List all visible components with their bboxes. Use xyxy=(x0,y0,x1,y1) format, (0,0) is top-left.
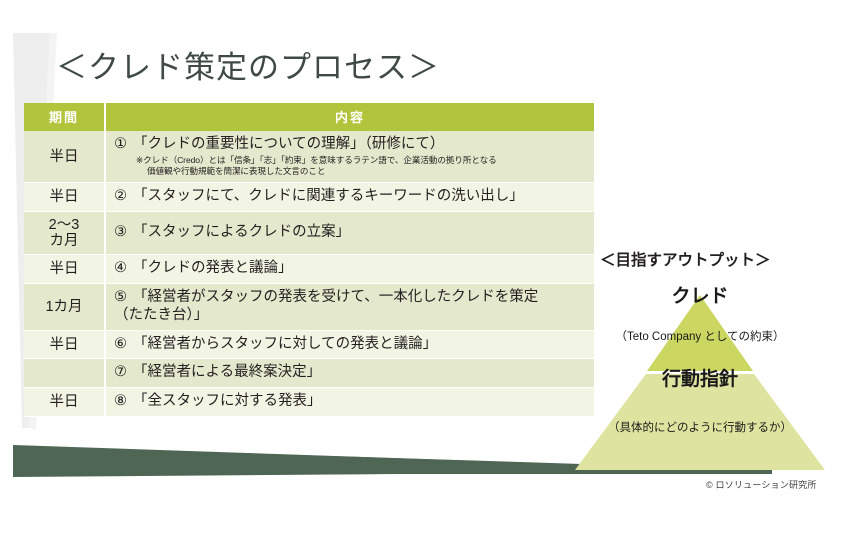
table-cell-content: ⑥「経営者からスタッフに対しての発表と議論」 xyxy=(105,330,594,359)
content-main-text: ①「クレドの重要性についての理解」（研修にて） xyxy=(114,135,588,154)
table-cell-period: 半日 xyxy=(24,131,105,183)
table-cell-period: 半日 xyxy=(24,330,105,359)
content-footnote: ※クレド（Credo）とは「信条」「志」「約束」を意味するラテン語で、企業活動の… xyxy=(114,155,588,178)
table-header-row: 期間 内容 xyxy=(24,103,594,131)
table-cell-period: 半日 xyxy=(24,387,105,416)
table-row: 半日⑥「経営者からスタッフに対しての発表と議論」 xyxy=(24,330,594,359)
step-text: 「経営者による最終案決定」 xyxy=(133,364,321,380)
pyramid-tier-top-description: （Teto Company としての約束） xyxy=(594,329,806,347)
copyright-notice: © ロソリューション研究所 xyxy=(706,478,817,491)
step-text: 「全スタッフに対する発表」 xyxy=(133,393,322,409)
step-number: ⑥ xyxy=(114,335,133,354)
table-cell-content: ④「クレドの発表と議論」 xyxy=(105,255,594,284)
page-title: ＜クレド策定のプロセス＞ xyxy=(56,42,440,87)
footnote-line-2: 価値観や行動規範を簡潔に表現した文言のこと xyxy=(136,166,588,177)
table-cell-period: 2〜3 カ月 xyxy=(24,211,105,254)
table-cell-content: ⑤「経営者がスタッフの発表を受けて、一本化したクレドを策定 （たたき台）」 xyxy=(105,283,594,330)
table-cell-content: ⑧「全スタッフに対する発表」 xyxy=(105,387,594,416)
step-text: 「経営者からスタッフに対しての発表と議論」 xyxy=(133,336,437,352)
column-header-period: 期間 xyxy=(24,103,105,131)
output-heading: ＜目指すアウトプット＞ xyxy=(600,248,771,270)
table-cell-content: ⑦「経営者による最終案決定」 xyxy=(105,359,594,388)
pyramid-tier-bottom-label: 行動指針 xyxy=(575,364,825,391)
content-main-text: ③「スタッフによるクレドの立案」 xyxy=(114,223,588,242)
content-main-text: ⑤「経営者がスタッフの発表を受けて、一本化したクレドを策定 （たたき台）」 xyxy=(114,288,588,325)
content-main-text: ⑥「経営者からスタッフに対しての発表と議論」 xyxy=(114,335,588,354)
table-body: 半日①「クレドの重要性についての理解」（研修にて）※クレド（Credo）とは「信… xyxy=(24,131,594,416)
table-row: 半日①「クレドの重要性についての理解」（研修にて）※クレド（Credo）とは「信… xyxy=(24,131,594,183)
content-main-text: ⑧「全スタッフに対する発表」 xyxy=(114,392,588,411)
table-cell-period xyxy=(24,359,105,388)
step-number: ④ xyxy=(114,259,133,278)
table-cell-content: ②「スタッフにて、クレドに関連するキーワードの洗い出し」 xyxy=(105,183,594,212)
step-number: ⑦ xyxy=(114,363,133,382)
table-row: 半日⑧「全スタッフに対する発表」 xyxy=(24,387,594,416)
step-text: 「経営者がスタッフの発表を受けて、一本化したクレドを策定 （たたき台）」 xyxy=(114,289,538,324)
slide-canvas: ＜クレド策定のプロセス＞ 期間 内容 半日①「クレドの重要性についての理解」（研… xyxy=(0,0,858,537)
step-number: ⑤ xyxy=(114,288,133,307)
table-cell-period: 1カ月 xyxy=(24,283,105,330)
step-text: 「クレドの発表と議論」 xyxy=(133,260,293,276)
footnote-line-1: ※クレド（Credo）とは「信条」「志」「約束」を意味するラテン語で、企業活動の… xyxy=(136,155,497,165)
table-cell-period: 半日 xyxy=(24,255,105,284)
table-row: 半日②「スタッフにて、クレドに関連するキーワードの洗い出し」 xyxy=(24,183,594,212)
column-header-content: 内容 xyxy=(105,103,594,131)
table-header: 期間 内容 xyxy=(24,103,594,131)
table-cell-content: ①「クレドの重要性についての理解」（研修にて）※クレド（Credo）とは「信条」… xyxy=(105,131,594,183)
pyramid-tier-top-label: クレド xyxy=(575,281,825,308)
step-number: ⑧ xyxy=(114,392,133,411)
table-row: 1カ月⑤「経営者がスタッフの発表を受けて、一本化したクレドを策定 （たたき台）」 xyxy=(24,283,594,330)
table-row: 半日④「クレドの発表と議論」 xyxy=(24,255,594,284)
table-cell-period: 半日 xyxy=(24,183,105,212)
content-main-text: ④「クレドの発表と議論」 xyxy=(114,259,588,278)
table-row: 2〜3 カ月③「スタッフによるクレドの立案」 xyxy=(24,211,594,254)
pyramid-tier-bottom-description: （具体的にどのように行動するか） xyxy=(589,419,811,437)
step-text: 「クレドの重要性についての理解」（研修にて） xyxy=(133,136,444,152)
process-table: 期間 内容 半日①「クレドの重要性についての理解」（研修にて）※クレド（Cred… xyxy=(24,103,594,417)
content-main-text: ⑦「経営者による最終案決定」 xyxy=(114,363,588,382)
step-text: 「スタッフにて、クレドに関連するキーワードの洗い出し」 xyxy=(133,188,524,204)
table-cell-content: ③「スタッフによるクレドの立案」 xyxy=(105,211,594,254)
table-row: ⑦「経営者による最終案決定」 xyxy=(24,359,594,388)
step-number: ① xyxy=(114,135,133,154)
step-number: ③ xyxy=(114,223,133,242)
step-number: ② xyxy=(114,187,133,206)
step-text: 「スタッフによるクレドの立案」 xyxy=(133,224,350,240)
content-main-text: ②「スタッフにて、クレドに関連するキーワードの洗い出し」 xyxy=(114,187,588,206)
